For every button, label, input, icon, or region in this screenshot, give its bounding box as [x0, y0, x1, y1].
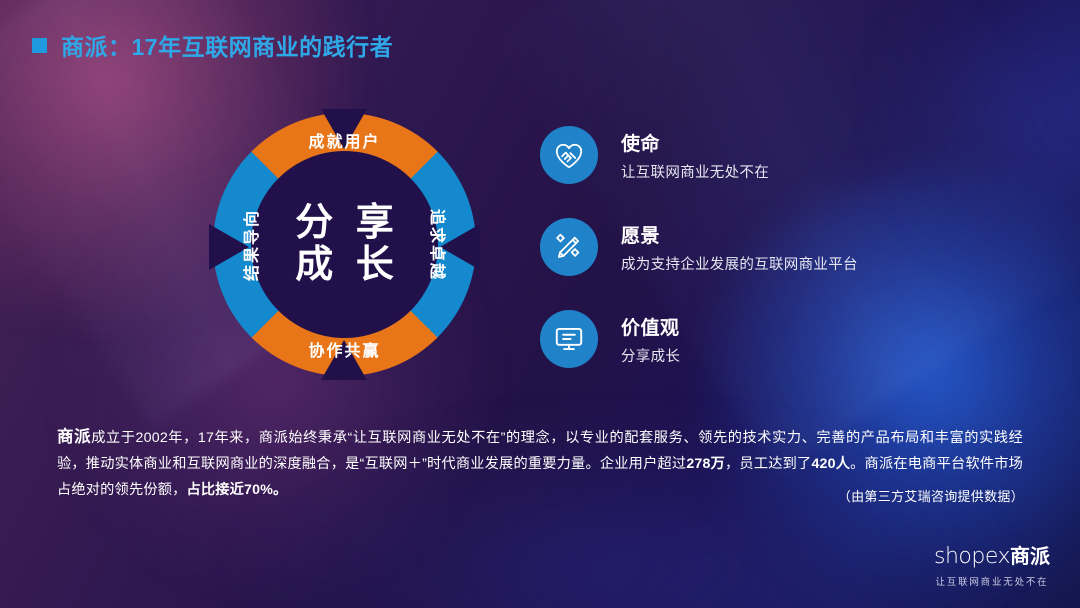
logo-brand-x: x [997, 544, 1010, 569]
diagram-center: 分 享 成 长 [251, 151, 438, 338]
pillar-title: 愿景 [621, 221, 858, 248]
monitor-icon [540, 310, 598, 368]
pencil-ruler-icon [540, 218, 598, 276]
company-description-lead: 商派 [57, 428, 91, 446]
data-source-footnote: （由第三方艾瑞咨询提供数据） [838, 486, 1024, 505]
pillar-subtitle: 让互联网商业无处不在 [621, 161, 769, 182]
pillar-mission-text: 使命 让互联网商业无处不在 [621, 129, 769, 182]
pillar-values-text: 价值观 分享成长 [621, 313, 680, 366]
diagram-arc-label-left: 结果导向 [238, 208, 262, 280]
pillar-title: 使命 [621, 129, 769, 156]
diagram-center-text: 分 享 成 长 [289, 203, 400, 285]
pillar-vision: 愿景 成为支持企业发展的互联网商业平台 [540, 218, 858, 276]
shopex-logo: shopex商派 让互联网商业无处不在 [934, 545, 1050, 588]
logo-wordmark: shopex商派 [934, 545, 1050, 568]
logo-brand-latin: shope [934, 544, 997, 569]
page-title-text: 商派：17年互联网商业的践行者 [61, 28, 393, 62]
pillar-values: 价值观 分享成长 [540, 310, 858, 368]
diagram-arc-label-bottom: 协作共赢 [308, 337, 380, 361]
core-values-diagram: 分 享 成 长 成就用户 追求卓越 协作共赢 结果导向 [213, 113, 476, 376]
diagram-arc-label-right: 追求卓越 [427, 208, 451, 280]
pillar-subtitle: 成为支持企业发展的互联网商业平台 [621, 253, 858, 274]
page-title: 商派：17年互联网商业的践行者 [32, 28, 393, 62]
handshake-heart-icon [540, 126, 598, 184]
diagram-center-line-1: 分 享 [289, 203, 400, 244]
pillar-title: 价值观 [621, 313, 680, 340]
pillar-list: 使命 让互联网商业无处不在 愿景 成为支持企业发展的互联网商业平台 [540, 126, 858, 368]
diagram-arc-label-top: 成就用户 [308, 128, 380, 152]
slide-canvas: 商派：17年互联网商业的践行者 分 享 成 长 成就用户 追求卓越 协作共赢 结… [0, 0, 1080, 608]
pillar-vision-text: 愿景 成为支持企业发展的互联网商业平台 [621, 221, 858, 274]
logo-tagline: 让互联网商业无处不在 [934, 574, 1050, 588]
pillar-subtitle: 分享成长 [621, 345, 680, 366]
square-bullet-icon [32, 38, 47, 53]
logo-brand-cn: 商派 [1010, 546, 1050, 568]
diagram-center-line-2: 成 长 [289, 245, 400, 286]
pillar-mission: 使命 让互联网商业无处不在 [540, 126, 858, 184]
